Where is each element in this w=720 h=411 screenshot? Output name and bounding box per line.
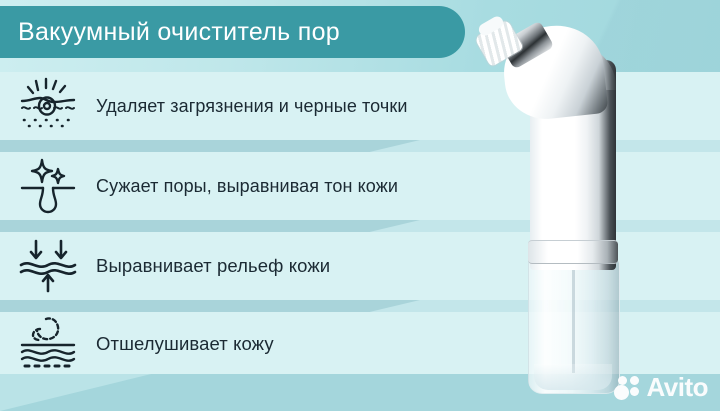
feature-row-4: Отшелушивает кожу bbox=[0, 310, 540, 378]
avito-watermark: Avito bbox=[614, 372, 708, 403]
avito-wordmark: Avito bbox=[646, 372, 708, 403]
pore-blackhole-extraction-icon bbox=[0, 77, 96, 135]
skin-exfoliation-icon bbox=[0, 315, 96, 373]
sparkle-pore-tightening-icon bbox=[0, 157, 96, 215]
skin-texture-smoothing-icon bbox=[0, 237, 96, 295]
device-chamber-base bbox=[534, 364, 612, 390]
feature-row-1: Удаляет загрязнения и черные точки bbox=[0, 72, 540, 140]
feature-row-2: Сужает поры, выравнивая тон кожи bbox=[0, 152, 540, 220]
device-collar-ring bbox=[528, 240, 618, 264]
product-image bbox=[468, 8, 658, 403]
feature-label-4: Отшелушивает кожу bbox=[96, 333, 274, 355]
avito-logo-icon bbox=[614, 376, 640, 400]
product-listing-image: Вакуумный очиститель пор Удаля bbox=[0, 0, 720, 411]
feature-label-1: Удаляет загрязнения и черные точки bbox=[96, 96, 408, 117]
feature-label-3: Выравнивает рельеф кожи bbox=[96, 255, 330, 277]
page-title: Вакуумный очиститель пор bbox=[18, 18, 340, 47]
feature-label-2: Сужает поры, выравнивая тон кожи bbox=[96, 176, 398, 197]
feature-row-3: Выравнивает рельеф кожи bbox=[0, 232, 540, 300]
title-banner: Вакуумный очиститель пор bbox=[0, 6, 465, 58]
